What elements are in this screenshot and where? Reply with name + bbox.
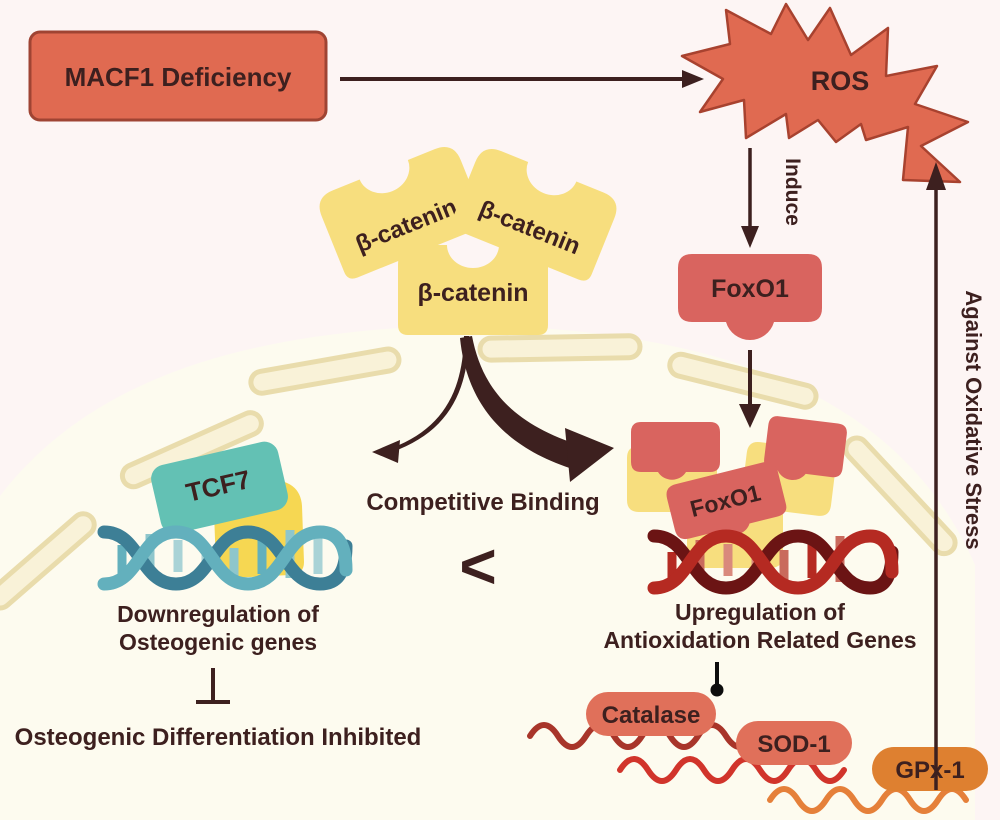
downregulation-label-line2: Osteogenic genes: [119, 629, 317, 655]
gpx1-pill[interactable]: [872, 747, 988, 791]
catalase-node[interactable]: Catalase: [586, 692, 716, 736]
diagram-canvas: MACF1 Deficiency ROS Induce FoxO1 β-cate…: [0, 0, 1000, 820]
gpx1-node[interactable]: GPx-1: [872, 747, 988, 791]
sod1-node[interactable]: SOD-1: [736, 721, 852, 765]
catalase-pill[interactable]: [586, 692, 716, 736]
macf1-deficiency-node[interactable]: MACF1 Deficiency: [30, 32, 326, 120]
complex-foxo1: [631, 422, 720, 480]
comparison-operator: <: [459, 530, 496, 602]
upregulation-label-line2: Antioxidation Related Genes: [603, 627, 916, 653]
sod1-pill[interactable]: [736, 721, 852, 765]
upregulation-label-line1: Upregulation of: [675, 599, 845, 625]
connector-dot: [711, 684, 724, 697]
osteogenic-inhibited-label: Osteogenic Differentiation Inhibited: [15, 724, 422, 751]
against-oxidative-stress-label: Against Oxidative Stress: [961, 290, 986, 549]
induce-label: Induce: [781, 158, 804, 226]
membrane-segment: [480, 336, 640, 361]
macf1-box[interactable]: [30, 32, 326, 120]
downregulation-label-line1: Downregulation of: [117, 601, 319, 627]
competitive-binding-label: Competitive Binding: [366, 489, 599, 516]
